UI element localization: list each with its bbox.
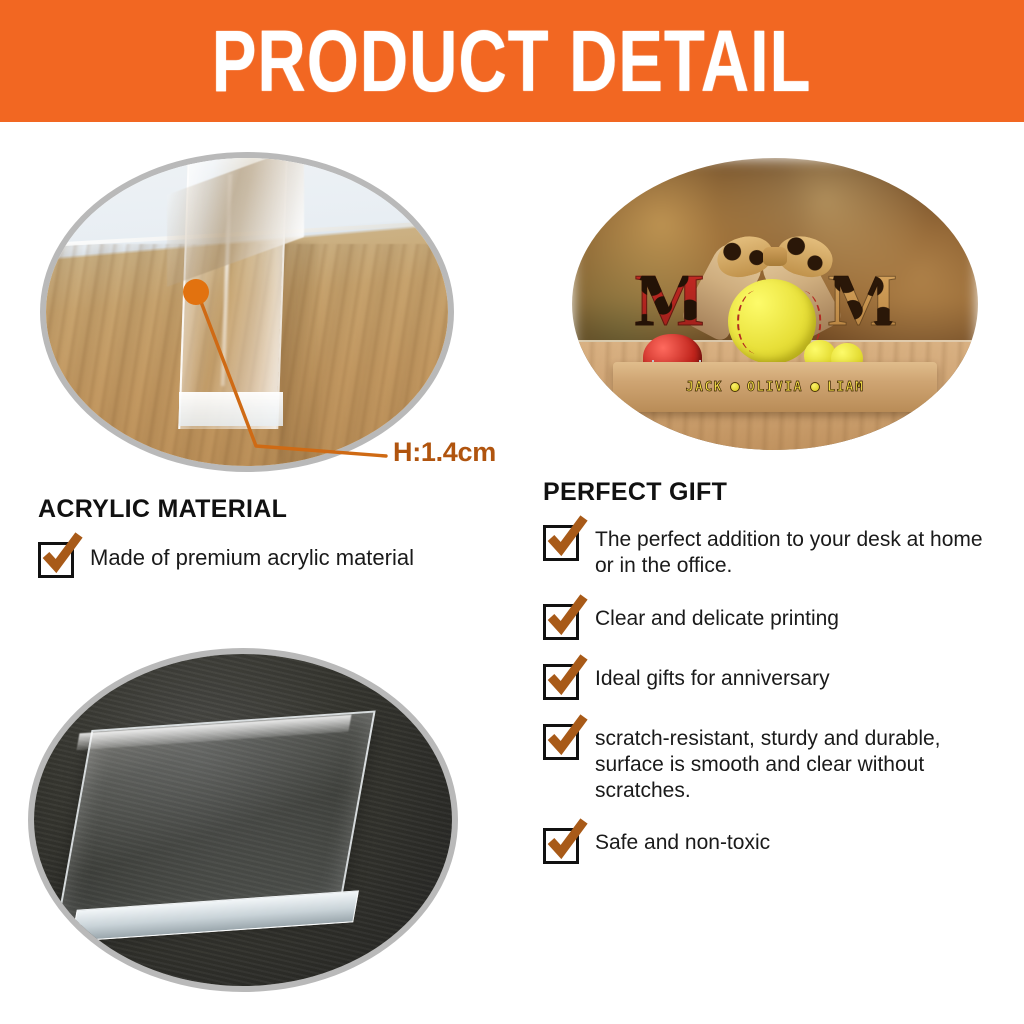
softball-seam-left [737, 290, 779, 355]
checkbox-checked-icon [543, 724, 579, 760]
engraved-name-2: OLIVIA [747, 380, 803, 395]
checkbox-checked-icon [543, 828, 579, 864]
checkbox-checked-icon [543, 525, 579, 561]
letter-m-tan-leopard: M [828, 264, 898, 338]
wood-table-background [46, 158, 448, 466]
feature-item: Clear and delicate printing [543, 602, 1003, 640]
acrylic-block-base-edge [179, 392, 284, 426]
page-title: PRODUCT DETAIL [212, 17, 812, 104]
checkbox-checked-icon [543, 664, 579, 700]
engraved-name-1: JACK [686, 380, 723, 395]
product-detail-page: PRODUCT DETAIL M M [0, 0, 1024, 1024]
feature-text: Clear and delicate printing [595, 602, 839, 632]
page-header-banner: PRODUCT DETAIL [0, 0, 1024, 122]
feature-text: The perfect addition to your desk at hom… [595, 523, 1003, 580]
wooden-name-base: JACK OLIVIA LIAM [613, 362, 938, 412]
engraved-names: JACK OLIVIA LIAM [686, 380, 865, 395]
softball-dot-icon [730, 382, 740, 392]
checkbox-checked-icon [38, 542, 74, 578]
bow-knot [763, 247, 786, 266]
product-photo: M M JACK OLIVIA LIAM [572, 158, 978, 450]
feature-item: scratch-resistant, sturdy and durable, s… [543, 722, 1003, 805]
feature-item: Made of premium acrylic material [38, 540, 518, 578]
acrylic-slab-photo [28, 648, 458, 992]
letter-m-red-leopard: M [635, 264, 705, 338]
acrylic-edge-photo [40, 152, 454, 472]
perfect-gift-section: PERFECT GIFT The perfect addition to you… [543, 478, 1003, 886]
dimension-label: H:1.4cm [393, 437, 496, 468]
acrylic-material-section: ACRYLIC MATERIAL Made of premium acrylic… [38, 495, 518, 604]
feature-text: Made of premium acrylic material [90, 540, 414, 572]
feature-item: Ideal gifts for anniversary [543, 662, 1003, 700]
feature-text: Ideal gifts for anniversary [595, 662, 830, 692]
softball-icon [728, 279, 816, 364]
section-title-perfect-gift: PERFECT GIFT [543, 478, 1003, 507]
wood-shadow-band [279, 241, 319, 466]
section-title-acrylic-material: ACRYLIC MATERIAL [38, 495, 518, 524]
feature-text: Safe and non-toxic [595, 826, 770, 856]
softball-dot-icon [810, 382, 820, 392]
checkbox-checked-icon [543, 604, 579, 640]
feature-item: The perfect addition to your desk at hom… [543, 523, 1003, 580]
leopard-bow-icon [717, 237, 834, 276]
feature-text: scratch-resistant, sturdy and durable, s… [595, 722, 1003, 805]
engraved-name-3: LIAM [827, 380, 864, 395]
feature-item: Safe and non-toxic [543, 826, 1003, 864]
